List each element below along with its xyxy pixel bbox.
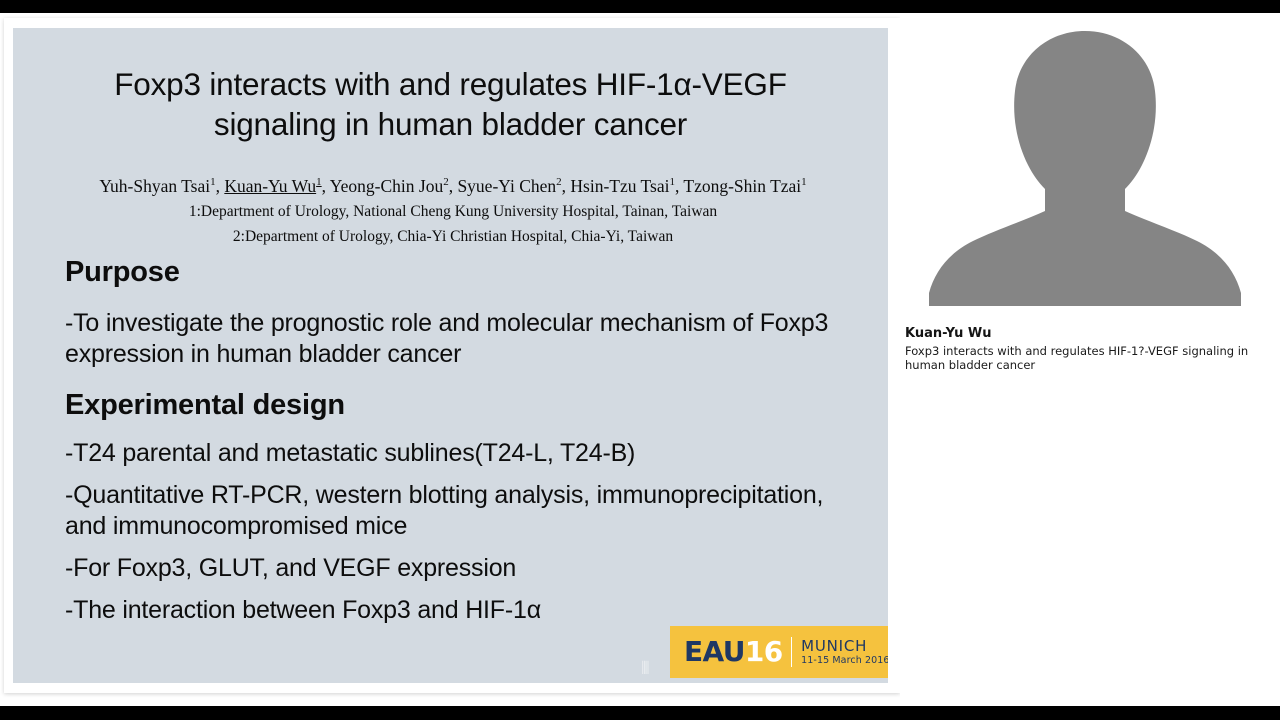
- experimental-design-heading: Experimental design: [65, 388, 865, 422]
- eau-brand-text: EAU: [684, 638, 745, 666]
- purpose-heading: Purpose: [65, 255, 865, 289]
- author-separator-2: ,: [322, 176, 330, 196]
- eau-city-text: MUNICH: [801, 638, 888, 655]
- eau-year-text: 16: [745, 638, 783, 666]
- author-1: Yuh-Shyan Tsai: [99, 176, 210, 196]
- speaker-avatar: [905, 13, 1265, 306]
- speaker-presentation-title: Foxp3 interacts with and regulates HIF-1…: [905, 344, 1273, 372]
- eau-logo-divider: [791, 637, 793, 667]
- presentation-slide[interactable]: Foxp3 interacts with and regulates HIF-1…: [13, 28, 888, 683]
- experimental-line: -For Foxp3, GLUT, and VEGF expression: [65, 553, 855, 584]
- letterbox-bar-top: [0, 0, 1280, 13]
- slide-title-line1: Foxp3 interacts with and regulates HIF-1…: [114, 66, 787, 102]
- slide-viewer[interactable]: Foxp3 interacts with and regulates HIF-1…: [0, 13, 900, 706]
- experimental-line: -Quantitative RT-PCR, western blotting a…: [65, 480, 855, 542]
- author-3: Yeong-Chin Jou: [330, 176, 443, 196]
- experimental-line: -T24 parental and metastatic sublines(T2…: [65, 438, 855, 469]
- experimental-design-list: -T24 parental and metastatic sublines(T2…: [65, 438, 855, 626]
- author-2-presenting: Kuan-Yu Wu: [224, 176, 316, 196]
- author-5: Hsin-Tzu Tsai: [570, 176, 669, 196]
- experimental-line: -The interaction between Foxp3 and HIF-1…: [65, 595, 855, 626]
- affiliation-1: 1:Department of Urology, National Cheng …: [33, 202, 873, 222]
- speaker-panel: Kuan-Yu Wu Foxp3 interacts with and regu…: [900, 13, 1280, 706]
- affiliation-2: 2:Department of Urology, Chia-Yi Christi…: [33, 227, 873, 247]
- slide-title-line2: signaling in human bladder cancer: [214, 106, 687, 142]
- eau-logo-meta: MUNICH 11-15 March 2016: [801, 638, 888, 667]
- author-list: Yuh-Shyan Tsai1, Kuan-Yu Wu1, Yeong-Chin…: [33, 171, 873, 197]
- person-placeholder-icon: [905, 13, 1265, 306]
- letterbox-bar-bottom: [0, 706, 1280, 720]
- eau-dates-text: 11-15 March 2016: [801, 655, 888, 667]
- slide-title: Foxp3 interacts with and regulates HIF-1…: [43, 64, 858, 144]
- author-4: Syue-Yi Chen: [457, 176, 556, 196]
- purpose-text: -To investigate the prognostic role and …: [65, 308, 855, 370]
- eau16-congress-logo: EAU16 MUNICH 11-15 March 2016: [670, 626, 888, 678]
- slide-frame: Foxp3 interacts with and regulates HIF-1…: [4, 18, 900, 693]
- author-6-affil-marker: 1: [801, 176, 807, 188]
- author-6: Tzong-Shin Tzai: [683, 176, 801, 196]
- speaker-name: Kuan-Yu Wu: [905, 325, 1275, 342]
